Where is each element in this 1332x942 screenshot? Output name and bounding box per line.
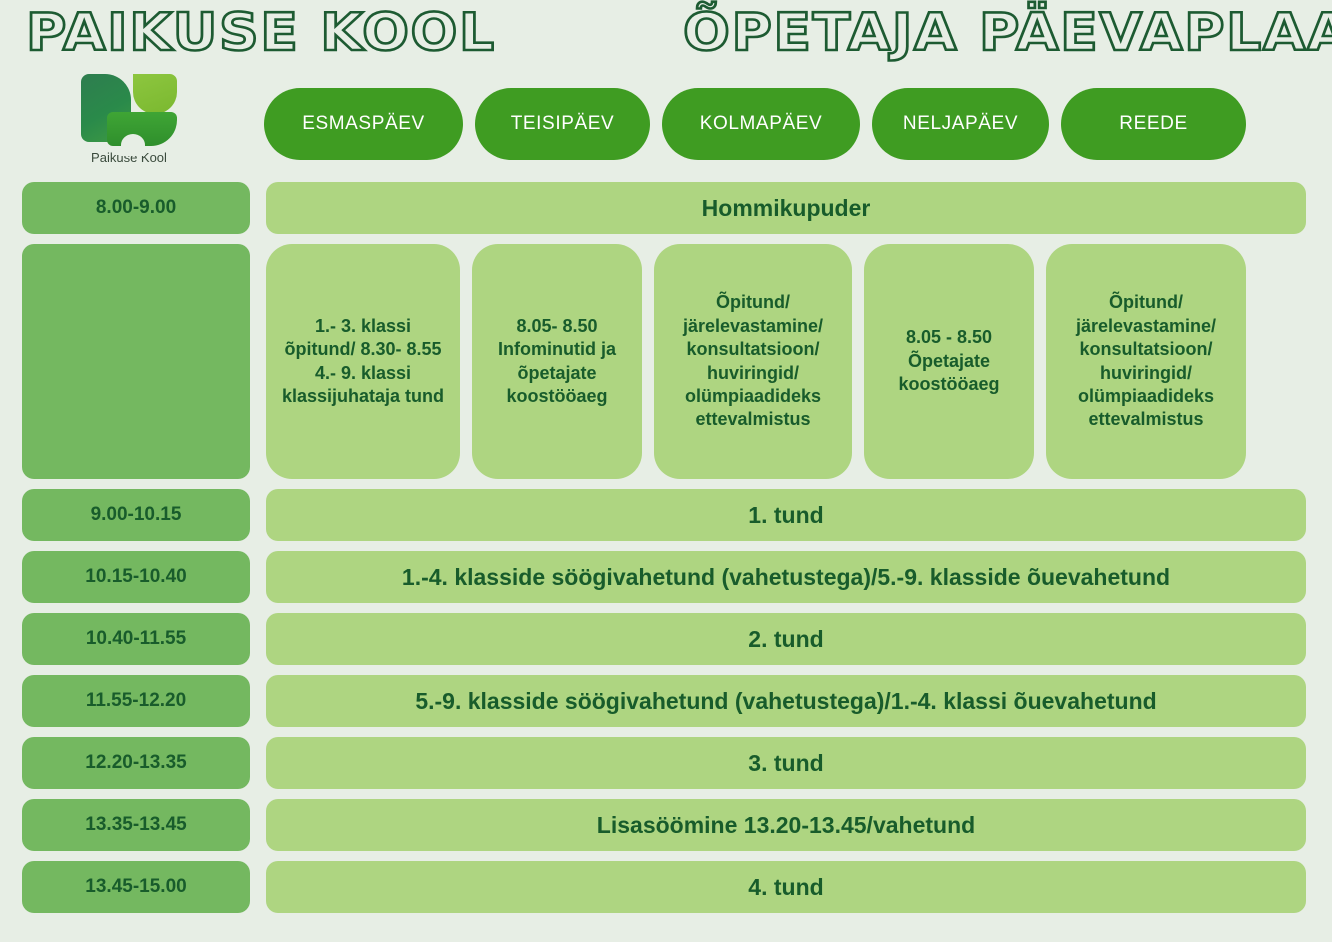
logo-notch-shape <box>121 134 145 156</box>
school-logo: Paikuse Kool <box>74 74 184 165</box>
page-title-school: PAIKUSE KOOL <box>26 2 496 64</box>
schedule-row-morning: 8.00-9.00 Hommikupuder <box>0 182 1332 234</box>
content-morning: Hommikupuder <box>266 182 1306 234</box>
time-label-break-1: 10.15-10.40 <box>22 551 250 603</box>
content-break-3: Lisasöömine 13.20-13.45/vahetund <box>266 799 1306 851</box>
schedule-row-day-specific: 1.- 3. klassi õpitund/ 8.30- 8.55 4.- 9.… <box>0 244 1332 479</box>
schedule-row-lesson-4: 13.45-15.00 4. tund <box>0 861 1332 913</box>
leaf-logo-icon <box>81 74 177 146</box>
content-lesson-1: 1. tund <box>266 489 1306 541</box>
schedule-row-lesson-2: 10.40-11.55 2. tund <box>0 613 1332 665</box>
day-button-friday[interactable]: REEDE <box>1061 88 1246 160</box>
page-header: PAIKUSE KOOL ÕPETAJA PÄEVAPLAAN Paikuse … <box>0 0 1332 180</box>
schedule-row-lesson-3: 12.20-13.35 3. tund <box>0 737 1332 789</box>
content-break-1: 1.-4. klasside söögivahetund (vahetusteg… <box>266 551 1306 603</box>
day-button-monday[interactable]: ESMASPÄEV <box>264 88 463 160</box>
content-lesson-4: 4. tund <box>266 861 1306 913</box>
content-wednesday: Õpitund/ järelevastamine/ konsultatsioon… <box>654 244 852 479</box>
time-label-lesson-3: 12.20-13.35 <box>22 737 250 789</box>
time-label-day-specific <box>22 244 250 479</box>
day-button-wednesday[interactable]: KOLMAPÄEV <box>662 88 860 160</box>
time-label-lesson-1: 9.00-10.15 <box>22 489 250 541</box>
day-button-thursday[interactable]: NELJAPÄEV <box>872 88 1049 160</box>
schedule-grid: 8.00-9.00 Hommikupuder 1.- 3. klassi õpi… <box>0 182 1332 923</box>
logo-leaf-top-shape <box>133 74 177 114</box>
time-label-morning: 8.00-9.00 <box>22 182 250 234</box>
content-monday: 1.- 3. klassi õpitund/ 8.30- 8.55 4.- 9.… <box>266 244 460 479</box>
content-break-2: 5.-9. klasside söögivahetund (vahetusteg… <box>266 675 1306 727</box>
content-friday: Õpitund/ järelevastamine/ konsultatsioon… <box>1046 244 1246 479</box>
title-row: PAIKUSE KOOL ÕPETAJA PÄEVAPLAAN <box>0 0 1332 74</box>
time-label-break-3: 13.35-13.45 <box>22 799 250 851</box>
content-lesson-2: 2. tund <box>266 613 1306 665</box>
content-tuesday: 8.05- 8.50 Infominutid ja õpetajate koos… <box>472 244 642 479</box>
page-title-plan: ÕPETAJA PÄEVAPLAAN <box>683 2 1332 64</box>
schedule-row-break-2: 11.55-12.20 5.-9. klasside söögivahetund… <box>0 675 1332 727</box>
time-label-lesson-2: 10.40-11.55 <box>22 613 250 665</box>
schedule-row-lesson-1: 9.00-10.15 1. tund <box>0 489 1332 541</box>
schedule-row-break-3: 13.35-13.45 Lisasöömine 13.20-13.45/vahe… <box>0 799 1332 851</box>
content-lesson-3: 3. tund <box>266 737 1306 789</box>
day-specific-cells: 1.- 3. klassi õpitund/ 8.30- 8.55 4.- 9.… <box>266 244 1306 479</box>
day-button-tuesday[interactable]: TEISIPÄEV <box>475 88 650 160</box>
content-thursday: 8.05 - 8.50 Õpetajate koostööaeg <box>864 244 1034 479</box>
time-label-break-2: 11.55-12.20 <box>22 675 250 727</box>
schedule-page: { "header": { "title_left": "PAIKUSE KOO… <box>0 0 1332 942</box>
schedule-row-break-1: 10.15-10.40 1.-4. klasside söögivahetund… <box>0 551 1332 603</box>
time-label-lesson-4: 13.45-15.00 <box>22 861 250 913</box>
day-buttons-bar: ESMASPÄEV TEISIPÄEV KOLMAPÄEV NELJAPÄEV … <box>264 88 1246 160</box>
